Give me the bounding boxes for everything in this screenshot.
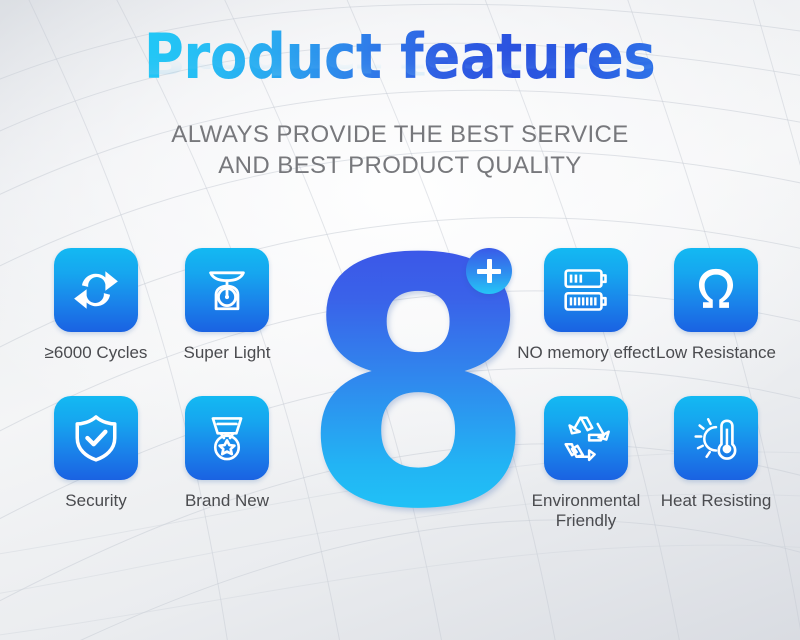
feature-no-memory-effect[interactable]: NO memory effect — [521, 248, 651, 364]
plus-bar-vertical — [487, 259, 492, 283]
feature-tile — [54, 396, 138, 480]
feature-label: Super Light — [157, 343, 297, 364]
feature-label: NO memory effect — [516, 343, 656, 364]
feature-column-left-2: Super Light Brand New — [162, 248, 292, 511]
feature-tile — [54, 248, 138, 332]
feature-label: ≥6000 Cycles — [26, 343, 166, 364]
feature-label: Low Resistance — [646, 343, 786, 364]
feature-label: Environmental Friendly — [516, 491, 656, 532]
feature-low-resistance[interactable]: Low Resistance — [651, 248, 781, 364]
feature-brand-new[interactable]: Brand New — [162, 396, 292, 512]
feature-tile — [544, 248, 628, 332]
plus-badge-icon — [466, 248, 512, 294]
feature-environmental-friendly[interactable]: Environmental Friendly — [521, 396, 651, 532]
shield-check-icon — [71, 413, 121, 463]
feature-column-left-1: ≥6000 Cycles Security — [31, 248, 161, 511]
feature-tile — [544, 396, 628, 480]
feature-tile — [674, 396, 758, 480]
centerpiece: 8 — [300, 236, 520, 546]
product-features-poster: Product features Product features ALWAYS… — [0, 0, 800, 640]
feature-cycles[interactable]: ≥6000 Cycles — [31, 248, 161, 364]
omega-icon — [690, 264, 742, 316]
page-title: Product features — [144, 26, 656, 88]
feature-tile — [674, 248, 758, 332]
feature-tile — [185, 396, 269, 480]
subtitle-line-2: AND BEST PRODUCT QUALITY — [0, 151, 800, 182]
sun-thermometer-icon — [691, 413, 741, 463]
feature-tile — [185, 248, 269, 332]
battery-levels-icon — [560, 264, 612, 316]
feature-label: Security — [26, 491, 166, 512]
feature-column-right-2: Low Resistance — [651, 248, 781, 511]
feature-label: Heat Resisting — [646, 491, 786, 512]
subtitle-line-1: ALWAYS PROVIDE THE BEST SERVICE — [0, 120, 800, 151]
feature-super-light[interactable]: Super Light — [162, 248, 292, 364]
recycle-icon — [561, 413, 611, 463]
kitchen-scale-icon — [202, 265, 252, 315]
feature-label: Brand New — [157, 491, 297, 512]
cycle-arrows-icon — [71, 265, 121, 315]
feature-column-right-1: NO memory effect — [521, 248, 651, 532]
page-subtitle: ALWAYS PROVIDE THE BEST SERVICE AND BEST… — [0, 120, 800, 181]
poster-header: Product features Product features ALWAYS… — [0, 0, 800, 181]
medal-star-icon — [202, 413, 252, 463]
feature-security[interactable]: Security — [31, 396, 161, 512]
feature-heat-resisting[interactable]: Heat Resisting — [651, 396, 781, 512]
title-wrap: Product features Product features — [0, 26, 800, 100]
